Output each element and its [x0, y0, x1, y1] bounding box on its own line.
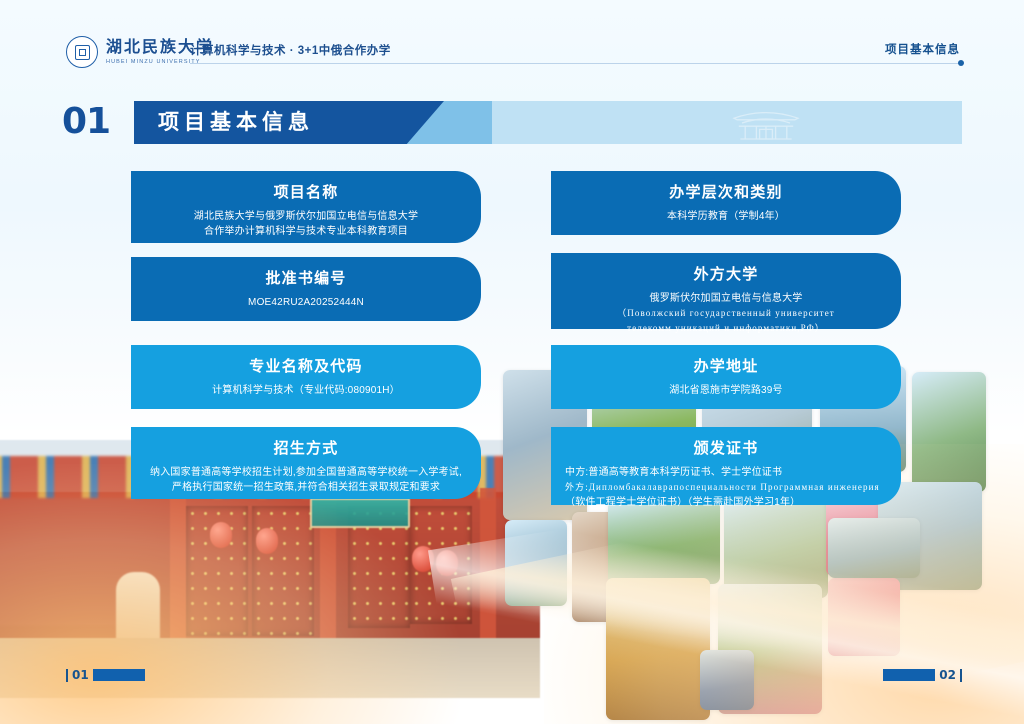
card-title: 招生方式 [149, 437, 463, 458]
card-project-name[interactable]: 项目名称 湖北民族大学与俄罗斯伏尔加国立电信与信息大学 合作举办计算机科学与技术… [131, 171, 481, 243]
card-line-ru: （Поволжский государственный университет [569, 306, 883, 321]
header-subtitle: 计算机科学与技术 · 3+1中俄合作办学 [190, 42, 391, 58]
page-tick-icon [66, 669, 68, 682]
card-foreign-university[interactable]: 外方大学 俄罗斯伏尔加国立电信与信息大学 （Поволжский государ… [551, 253, 901, 329]
page-tick-icon [960, 669, 962, 682]
card-line: 严格执行国家统一招生政策,并符合相关招生录取规定和要求 [149, 480, 463, 495]
university-crest-icon [66, 36, 98, 68]
banner-light-fill [458, 101, 962, 144]
section-banner: 01 项目基本信息 [62, 101, 962, 144]
page-bar [93, 669, 145, 681]
card-title: 办学地址 [569, 355, 883, 376]
card-line: 合作举办计算机科学与技术专业本科教育项目 [149, 224, 463, 239]
card-line: 俄罗斯伏尔加国立电信与信息大学 [569, 291, 883, 306]
card-campus-address[interactable]: 办学地址 湖北省恩施市学院路39号 [551, 345, 901, 409]
slide-page: 湖北民族大学 HUBEI MINZU UNIVERSITY 计算机科学与技术 ·… [0, 0, 1024, 724]
card-line: （软件工程学士学位证书）（学生需赴国外学习1年） [565, 495, 887, 510]
card-title: 外方大学 [569, 263, 883, 284]
card-line-ru: телекомм уникаций и информатики,РФ） [569, 321, 883, 336]
card-level-and-type[interactable]: 办学层次和类别 本科学历教育（学制4年） [551, 171, 901, 235]
card-approval-number[interactable]: 批准书编号 MOE42RU2A20252444N [131, 257, 481, 321]
card-line: 计算机科学与技术（专业代码:080901H） [149, 383, 463, 398]
card-line-ru: 外方:Дипломбакалаврапоспециальности Програ… [565, 480, 887, 495]
page-number: 01 [72, 668, 89, 682]
card-line: MOE42RU2A20252444N [149, 295, 463, 310]
section-title: 项目基本信息 [158, 101, 314, 144]
card-title: 专业名称及代码 [149, 355, 463, 376]
card-line: 湖北省恩施市学院路39号 [569, 383, 883, 398]
footer-page-left: 01 [66, 668, 145, 682]
pagoda-gate-icon [718, 105, 814, 141]
header-section-label: 项目基本信息 [885, 41, 960, 57]
card-title: 办学层次和类别 [569, 181, 883, 202]
card-certificates-awarded[interactable]: 颁发证书 中方:普通高等教育本科学历证书、学士学位证书 外方:Дипломбак… [551, 427, 901, 505]
header-dot-marker [958, 60, 964, 66]
card-line: 湖北民族大学与俄罗斯伏尔加国立电信与信息大学 [149, 209, 463, 224]
page-bar [883, 669, 935, 681]
card-title: 颁发证书 [565, 437, 887, 458]
section-number: 01 [62, 100, 110, 144]
card-major-name-and-code[interactable]: 专业名称及代码 计算机科学与技术（专业代码:080901H） [131, 345, 481, 409]
card-title: 项目名称 [149, 181, 463, 202]
warm-glow-left [0, 464, 460, 724]
page-number: 02 [939, 668, 956, 682]
card-admission-method[interactable]: 招生方式 纳入国家普通高等学校招生计划,参加全国普通高等学校统一入学考试, 严格… [131, 427, 481, 499]
card-line: 中方:普通高等教育本科学历证书、学士学位证书 [565, 465, 887, 480]
card-line: 本科学历教育（学制4年） [569, 209, 883, 224]
footer-page-right: 02 [883, 668, 962, 682]
card-title: 批准书编号 [149, 267, 463, 288]
page-header: 湖北民族大学 HUBEI MINZU UNIVERSITY 计算机科学与技术 ·… [0, 0, 1024, 78]
card-line: 纳入国家普通高等学校招生计划,参加全国普通高等学校统一入学考试, [149, 465, 463, 480]
header-divider [190, 63, 960, 64]
